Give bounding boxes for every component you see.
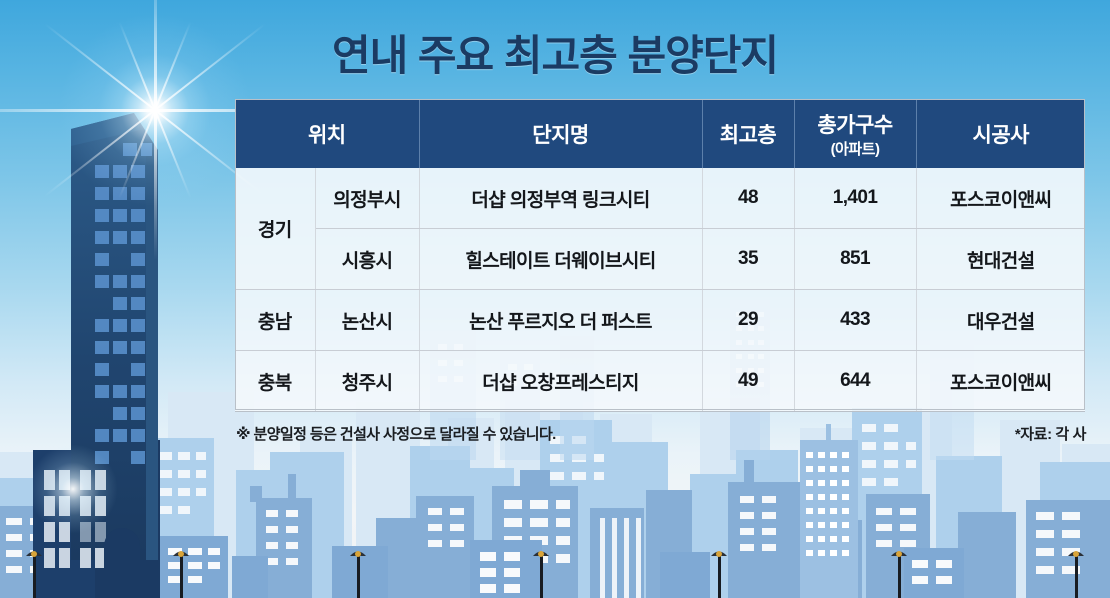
table-row: 시흥시 힐스테이트 더웨이브시티 35 851 현대건설 xyxy=(235,229,1085,290)
table-row: 충남 논산시 논산 푸르지오 더 퍼스트 29 433 대우건설 xyxy=(235,290,1085,351)
secondary-flare-icon xyxy=(28,444,118,534)
cell-city: 논산시 xyxy=(315,290,419,351)
cell-province: 충남 xyxy=(235,290,315,351)
cell-city: 시흥시 xyxy=(315,229,419,290)
page-title: 연내 주요 최고층 분양단지 xyxy=(0,22,1110,83)
cell-province: 충북 xyxy=(235,351,315,412)
column-header-households-main: 총가구수 xyxy=(817,114,892,137)
cell-city: 의정부시 xyxy=(315,168,419,229)
cell-builder: 포스코이앤씨 xyxy=(916,168,1085,229)
cell-households: 851 xyxy=(794,229,916,290)
footnote-source: *자료: 각 사 xyxy=(1015,423,1086,444)
cell-top-floor: 29 xyxy=(702,290,794,351)
header-row: 위치 단지명 최고층 총가구수 (아파트) 시공사 xyxy=(235,99,1085,168)
cell-complex-name: 논산 푸르지오 더 퍼스트 xyxy=(419,290,702,351)
cell-top-floor: 49 xyxy=(702,351,794,412)
apartment-table: 위치 단지명 최고층 총가구수 (아파트) 시공사 경기 의정부시 더샵 의정부… xyxy=(235,99,1085,412)
table-row: 경기 의정부시 더샵 의정부역 링크시티 48 1,401 포스코이앤씨 xyxy=(235,168,1085,229)
cell-builder: 포스코이앤씨 xyxy=(916,351,1085,412)
column-header-location: 위치 xyxy=(235,99,419,168)
table-header: 위치 단지명 최고층 총가구수 (아파트) 시공사 xyxy=(235,99,1085,168)
column-header-builder: 시공사 xyxy=(916,99,1085,168)
column-header-households-sub: (아파트) xyxy=(795,138,916,159)
cell-top-floor: 48 xyxy=(702,168,794,229)
cell-builder: 대우건설 xyxy=(916,290,1085,351)
footnote-disclaimer: ※ 분양일정 등은 건설사 사정으로 달라질 수 있습니다. xyxy=(236,423,556,444)
table-row: 충북 청주시 더샵 오창프레스티지 49 644 포스코이앤씨 xyxy=(235,351,1085,412)
cell-city: 청주시 xyxy=(315,351,419,412)
table-body: 경기 의정부시 더샵 의정부역 링크시티 48 1,401 포스코이앤씨 시흥시… xyxy=(235,168,1085,412)
data-table-container: 위치 단지명 최고층 총가구수 (아파트) 시공사 경기 의정부시 더샵 의정부… xyxy=(235,99,1085,412)
cell-top-floor: 35 xyxy=(702,229,794,290)
column-header-complex-name: 단지명 xyxy=(419,99,702,168)
cell-complex-name: 힐스테이트 더웨이브시티 xyxy=(419,229,702,290)
infographic-canvas: 연내 주요 최고층 분양단지 위치 단지명 최고층 총가구수 (아파트) xyxy=(0,0,1110,598)
column-header-top-floor: 최고층 xyxy=(702,99,794,168)
cell-households: 433 xyxy=(794,290,916,351)
cell-complex-name: 더샵 의정부역 링크시티 xyxy=(419,168,702,229)
cell-households: 1,401 xyxy=(794,168,916,229)
column-header-households: 총가구수 (아파트) xyxy=(794,99,916,168)
cell-households: 644 xyxy=(794,351,916,412)
cell-builder: 현대건설 xyxy=(916,229,1085,290)
cell-complex-name: 더샵 오창프레스티지 xyxy=(419,351,702,412)
cell-province: 경기 xyxy=(235,168,315,290)
